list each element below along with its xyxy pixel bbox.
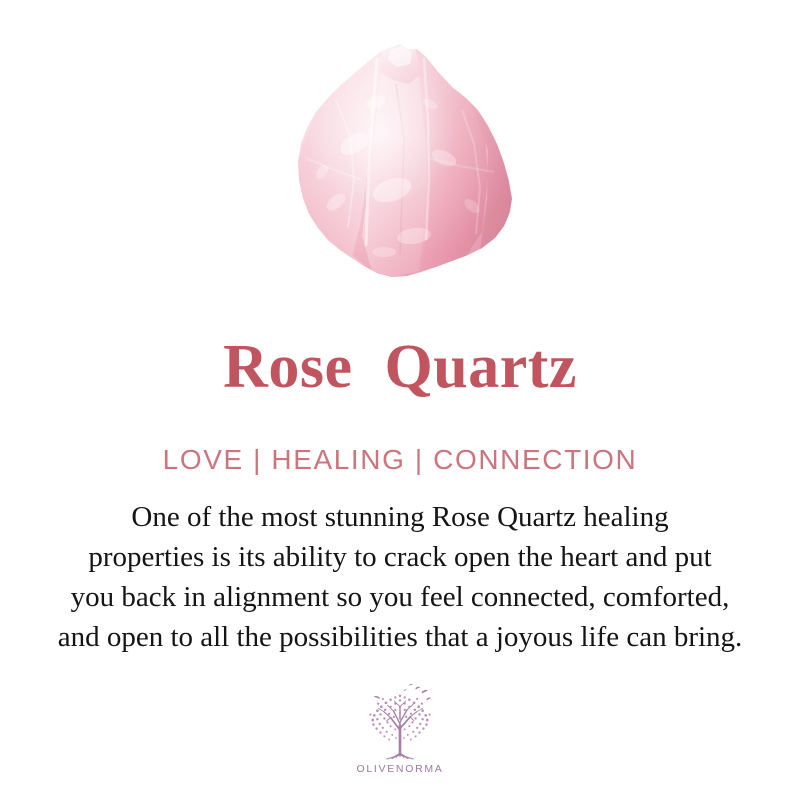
description-line: and open to all the possibilities that a…	[24, 617, 776, 657]
brand-logo: OLIVENORMA	[0, 680, 800, 775]
product-image-container	[0, 40, 800, 290]
description-text: One of the most stunning Rose Quartz hea…	[24, 497, 776, 657]
description-line: One of the most stunning Rose Quartz hea…	[24, 497, 776, 537]
description-line: properties is its ability to crack open …	[24, 537, 776, 577]
description-line: you back in alignment so you feel connec…	[24, 577, 776, 617]
keyword-tagline: LOVE | HEALING | CONNECTION	[0, 443, 800, 477]
page-title: Rose Quartz	[0, 332, 800, 402]
brand-wordmark: OLIVENORMA	[356, 763, 443, 775]
rose-quartz-crystal	[276, 40, 524, 285]
tree-of-life-icon	[361, 680, 439, 760]
crystal-body	[276, 40, 524, 285]
product-info-card: Rose Quartz LOVE | HEALING | CONNECTION …	[0, 0, 800, 800]
